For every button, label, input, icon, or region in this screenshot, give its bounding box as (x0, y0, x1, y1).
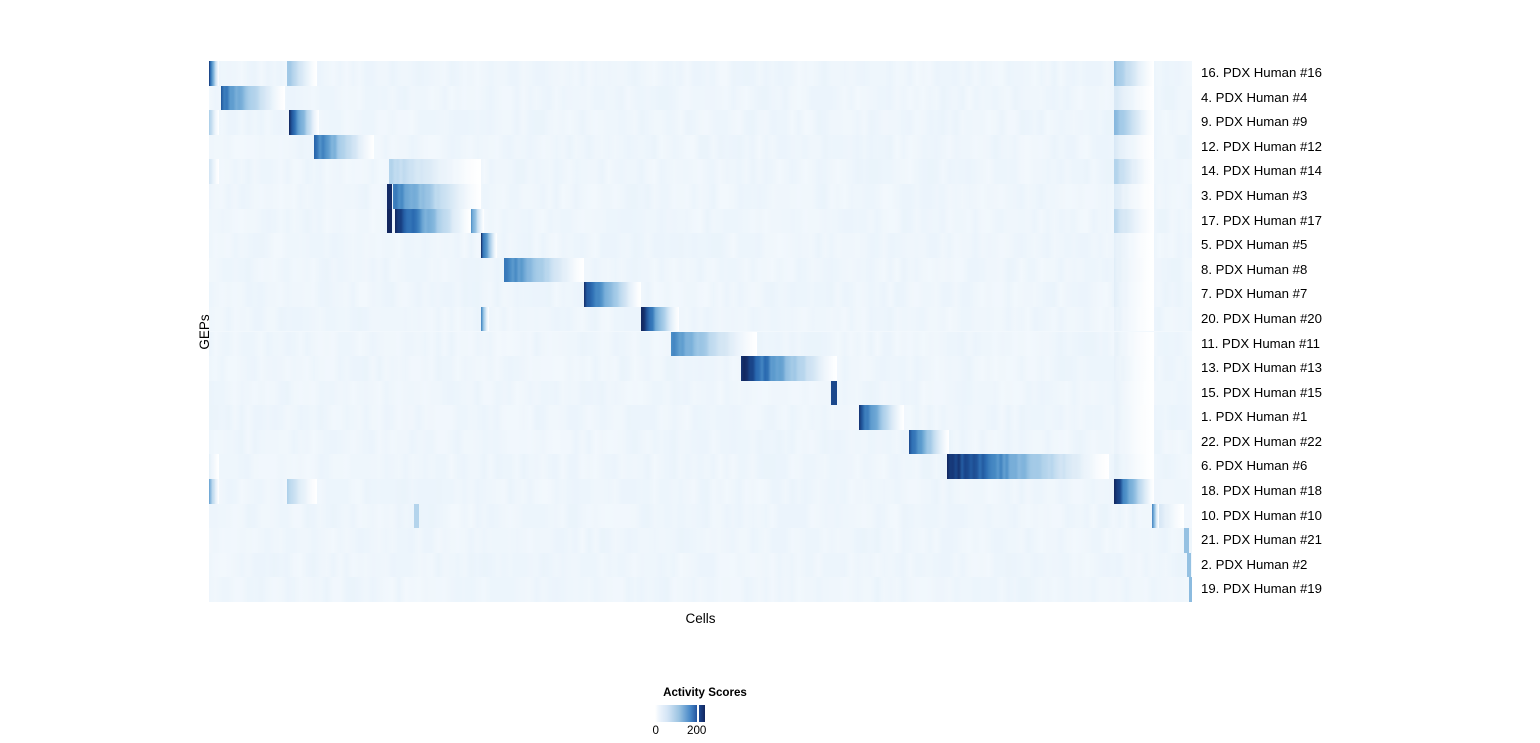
colorbar-tick-mark (697, 705, 699, 722)
heatmap-row (209, 258, 1192, 283)
row-label: 7. PDX Human #7 (1201, 282, 1307, 307)
row-label: 4. PDX Human #4 (1201, 86, 1307, 111)
heatmap-block (1114, 110, 1154, 135)
heatmap-block (395, 209, 471, 234)
heatmap-block (1114, 454, 1154, 479)
heatmap-block (471, 209, 484, 234)
heatmap-row (209, 209, 1192, 234)
row-label: 9. PDX Human #9 (1201, 110, 1307, 135)
heatmap-block (1114, 86, 1154, 111)
heatmap-block (1114, 209, 1154, 234)
heatmap-row (209, 159, 1192, 184)
heatmap-block (289, 110, 319, 135)
heatmap-block (209, 479, 219, 504)
heatmap-block (909, 430, 949, 455)
heatmap-row (209, 307, 1192, 332)
heatmap-row-texture (209, 209, 1192, 234)
heatmap-block (1114, 258, 1154, 283)
heatmap-row-texture (209, 110, 1192, 135)
heatmap-block (1189, 577, 1192, 602)
heatmap-block (221, 86, 285, 111)
heatmap-block (287, 61, 317, 86)
heatmap-block (831, 381, 837, 406)
colorbar-tick-label-min: 0 (653, 724, 659, 737)
heatmap-block (1114, 282, 1154, 307)
heatmap-block (947, 454, 1109, 479)
heatmap-row-texture (209, 282, 1192, 307)
row-label: 3. PDX Human #3 (1201, 184, 1307, 209)
row-label: 11. PDX Human #11 (1201, 332, 1320, 357)
heatmap-block (741, 356, 837, 381)
heatmap-block (389, 159, 481, 184)
heatmap-row-texture (209, 61, 1192, 86)
heatmap-row (209, 356, 1192, 381)
heatmap-row-texture (209, 577, 1192, 602)
row-label: 22. PDX Human #22 (1201, 430, 1322, 455)
row-label: 2. PDX Human #2 (1201, 553, 1307, 578)
heatmap-block (584, 282, 641, 307)
heatmap-block (859, 405, 904, 430)
heatmap-block (671, 332, 757, 357)
heatmap-row-texture (209, 86, 1192, 111)
heatmap-row (209, 553, 1192, 578)
heatmap-block (1114, 307, 1154, 332)
heatmap-block (1114, 184, 1154, 209)
heatmap-row-texture (209, 233, 1192, 258)
heatmap-block (1114, 159, 1154, 184)
heatmap-row (209, 233, 1192, 258)
heatmap-row-texture (209, 553, 1192, 578)
heatmap-row (209, 528, 1192, 553)
row-label: 8. PDX Human #8 (1201, 258, 1307, 283)
row-label: 18. PDX Human #18 (1201, 479, 1322, 504)
row-label: 5. PDX Human #5 (1201, 233, 1307, 258)
heatmap-row-texture (209, 528, 1192, 553)
heatmap-row (209, 577, 1192, 602)
heatmap-block (1114, 381, 1154, 406)
heatmap-row (209, 135, 1192, 160)
heatmap-row (209, 381, 1192, 406)
heatmap-block (1184, 528, 1189, 553)
heatmap-row (209, 86, 1192, 111)
heatmap-row-texture (209, 479, 1192, 504)
heatmap-block (387, 184, 392, 209)
row-label: 6. PDX Human #6 (1201, 454, 1307, 479)
heatmap-block (1114, 135, 1154, 160)
heatmap-row-texture (209, 405, 1192, 430)
heatmap-row-texture (209, 381, 1192, 406)
heatmap-row (209, 405, 1192, 430)
heatmap-plot-area (209, 61, 1192, 602)
heatmap-row-texture (209, 430, 1192, 455)
heatmap-row (209, 61, 1192, 86)
heatmap-figure: GEPs Cells 16. PDX Human #164. PDX Human… (0, 0, 1540, 743)
y-axis-title: GEPs (164, 292, 244, 372)
row-label: 14. PDX Human #14 (1201, 159, 1322, 184)
row-label: 20. PDX Human #20 (1201, 307, 1322, 332)
heatmap-block (1187, 553, 1191, 578)
heatmap-block (1114, 405, 1154, 430)
heatmap-block (1114, 233, 1154, 258)
heatmap-block (209, 110, 219, 135)
heatmap-block (1114, 430, 1154, 455)
colorbar-title: Activity Scores (600, 686, 810, 699)
heatmap-row (209, 282, 1192, 307)
heatmap-row-texture (209, 258, 1192, 283)
colorbar-legend: Activity Scores 0 200 (600, 686, 810, 738)
heatmap-block (393, 184, 481, 209)
heatmap-row (209, 454, 1192, 479)
heatmap-block (1114, 61, 1154, 86)
row-label: 21. PDX Human #21 (1201, 528, 1322, 553)
heatmap-block (1114, 356, 1154, 381)
heatmap-block (1159, 504, 1184, 529)
row-label: 16. PDX Human #16 (1201, 61, 1322, 86)
heatmap-block (1114, 332, 1154, 357)
heatmap-row-texture (209, 356, 1192, 381)
heatmap-block (481, 233, 497, 258)
heatmap-block (287, 479, 317, 504)
heatmap-block (481, 307, 489, 332)
heatmap-block (209, 159, 219, 184)
x-axis-title: Cells (209, 611, 1192, 626)
colorbar-tick-label-max: 200 (687, 724, 706, 737)
heatmap-row (209, 110, 1192, 135)
heatmap-row (209, 479, 1192, 504)
row-label: 15. PDX Human #15 (1201, 381, 1322, 406)
heatmap-row (209, 504, 1192, 529)
heatmap-row-texture (209, 159, 1192, 184)
heatmap-block (641, 307, 679, 332)
heatmap-block (387, 209, 392, 234)
heatmap-row (209, 430, 1192, 455)
row-label: 10. PDX Human #10 (1201, 504, 1322, 529)
heatmap-row-texture (209, 504, 1192, 529)
heatmap-block (504, 258, 584, 283)
heatmap-block (209, 61, 219, 86)
heatmap-block (314, 135, 374, 160)
heatmap-row-texture (209, 307, 1192, 332)
heatmap-row (209, 184, 1192, 209)
row-label: 13. PDX Human #13 (1201, 356, 1322, 381)
row-label: 17. PDX Human #17 (1201, 209, 1322, 234)
heatmap-block (414, 504, 419, 529)
row-label: 19. PDX Human #19 (1201, 577, 1322, 602)
row-label: 1. PDX Human #1 (1201, 405, 1307, 430)
row-label-list: 16. PDX Human #164. PDX Human #49. PDX H… (1201, 61, 1531, 602)
heatmap-row-texture (209, 184, 1192, 209)
heatmap-block (1152, 504, 1159, 529)
row-label: 12. PDX Human #12 (1201, 135, 1322, 160)
heatmap-block (1114, 479, 1154, 504)
heatmap-block (209, 454, 219, 479)
heatmap-row (209, 332, 1192, 357)
